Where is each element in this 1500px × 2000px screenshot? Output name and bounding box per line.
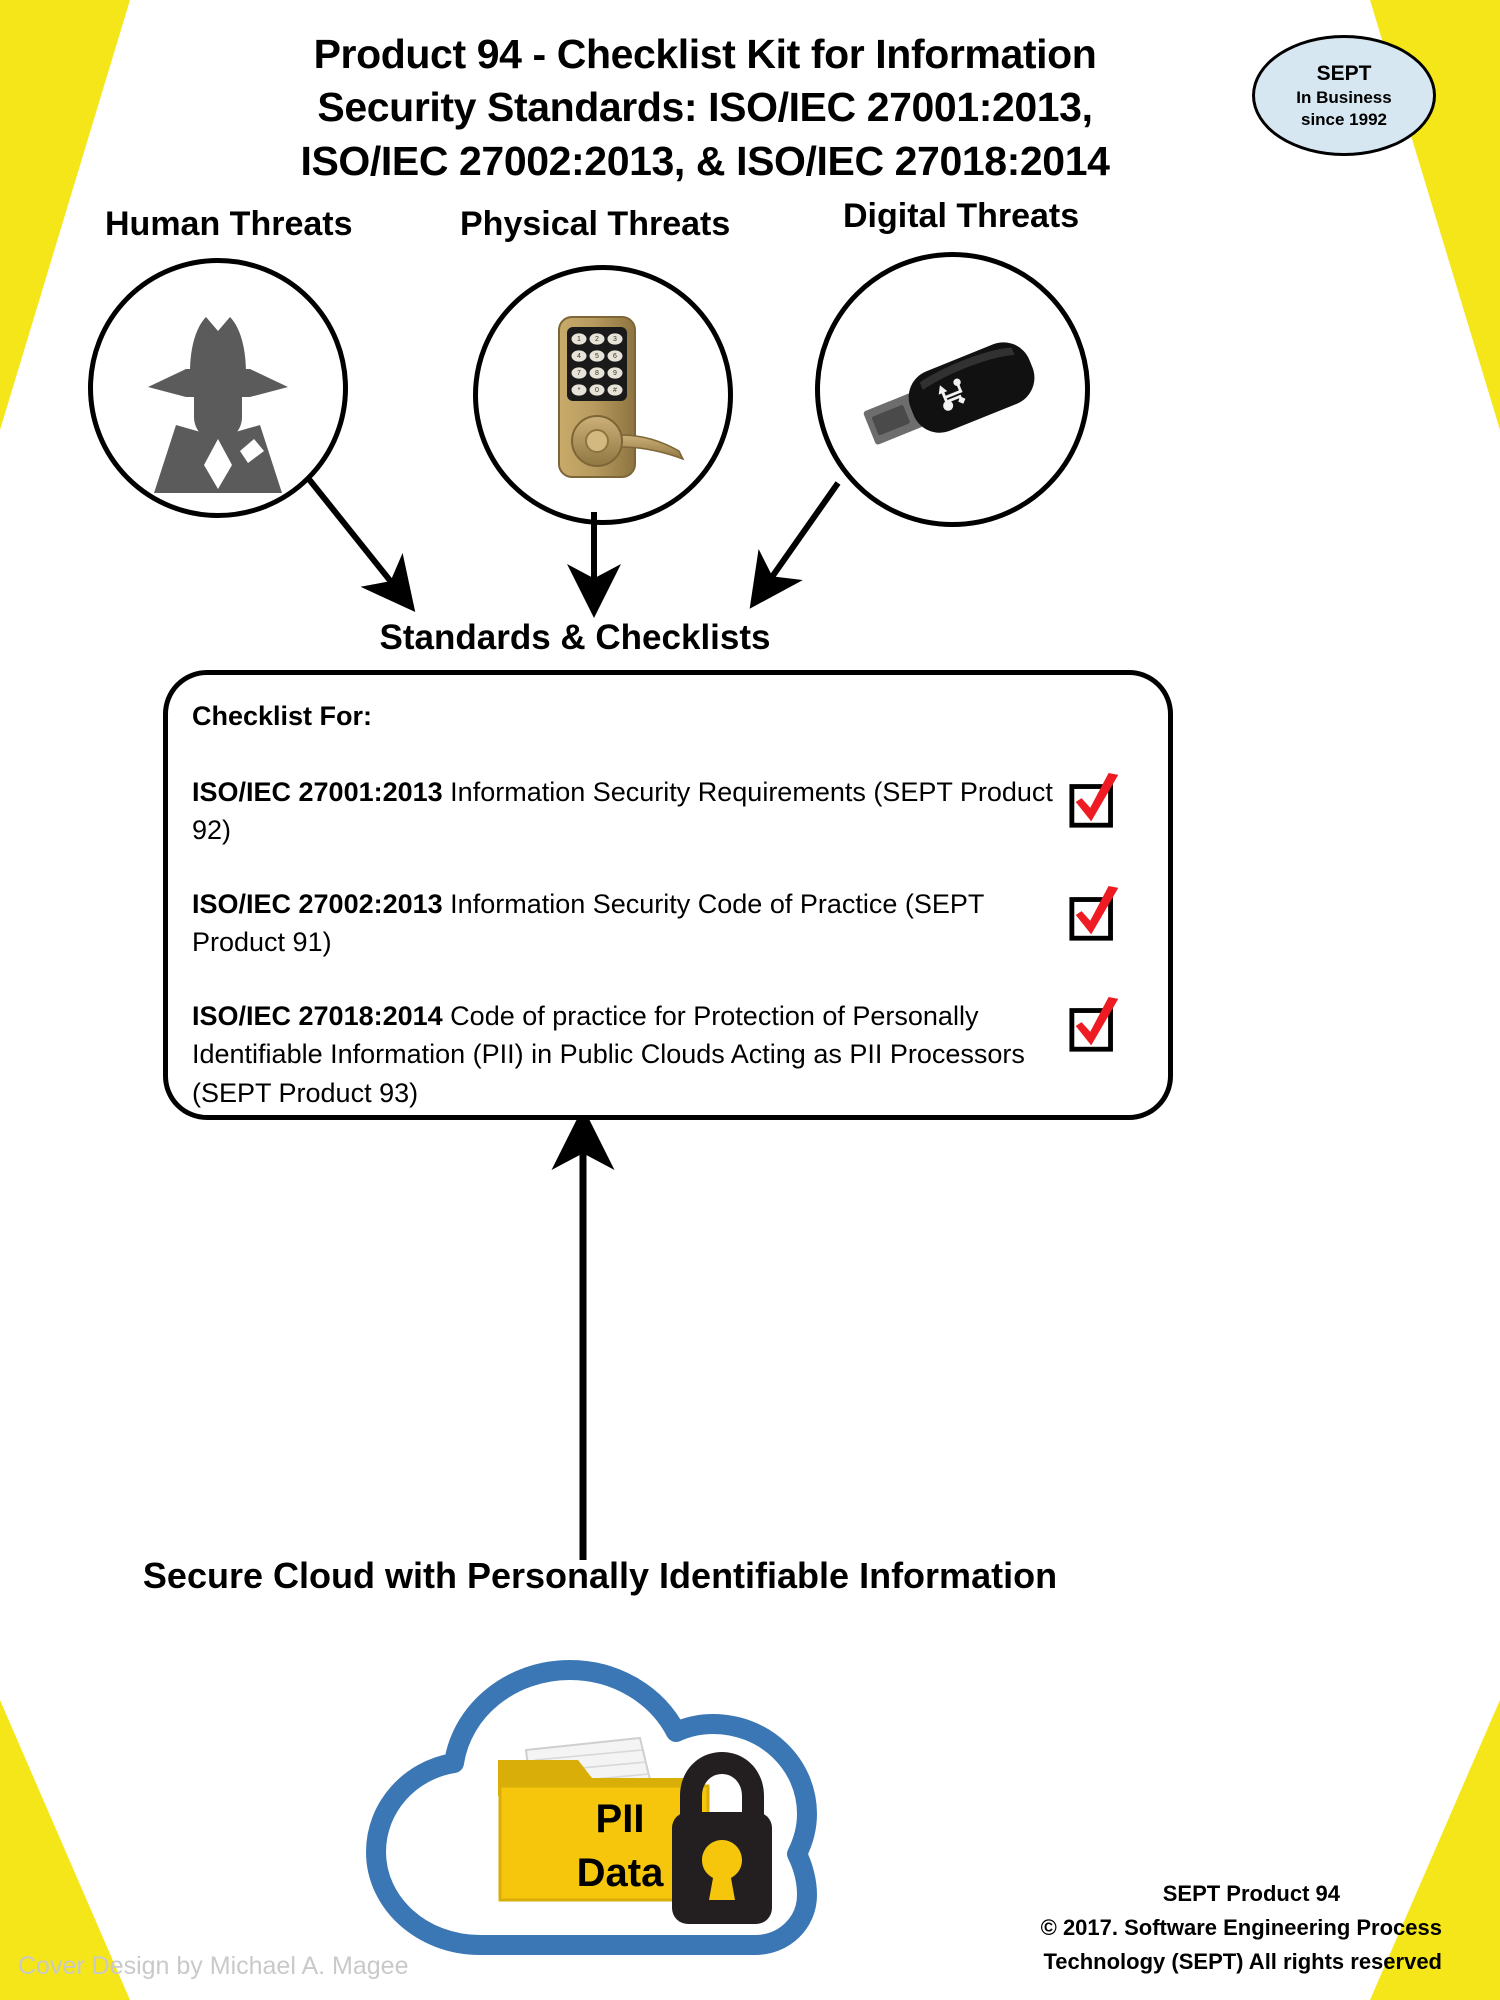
threat-circle-physical: 123 456 789 *0# (473, 265, 733, 525)
cover-design-credit: Cover Design by Michael A. Magee (18, 1952, 408, 1981)
svg-text:0: 0 (595, 387, 599, 394)
threat-label-digital: Digital Threats (843, 197, 1079, 236)
checkbox-checked-27018[interactable] (1068, 997, 1126, 1055)
checkbox-checked-27001[interactable] (1068, 773, 1126, 831)
folder-label-data: Data (577, 1851, 664, 1895)
checklist-item-27018-standard: ISO/IEC 27018:2014 (192, 1001, 443, 1031)
checkbox-checked-27002[interactable] (1068, 886, 1126, 944)
folder-label-pii: PII (596, 1797, 645, 1841)
usb-flash-drive-icon (843, 315, 1063, 475)
sept-badge: SEPT In Business since 1992 (1252, 35, 1436, 156)
arrow-digital-to-checklist (760, 483, 838, 594)
threat-circle-human (88, 258, 348, 518)
secure-cloud-graphic: PII Data (330, 1600, 850, 1990)
checklist-item-27002-standard: ISO/IEC 27002:2013 (192, 889, 443, 919)
checklist-item-27002: ISO/IEC 27002:2013 Information Security … (192, 885, 1072, 962)
svg-text:1: 1 (577, 336, 581, 343)
svg-text:3: 3 (613, 336, 617, 343)
svg-text:5: 5 (595, 353, 599, 360)
threat-circle-digital (815, 252, 1090, 527)
svg-text:#: # (613, 387, 617, 394)
checklist-panel-title: Checklist For: (192, 701, 372, 732)
title-line-2: Security Standards: ISO/IEC 27001:2013, (200, 81, 1210, 134)
arrow-human-to-checklist (308, 478, 404, 598)
keypad-door-lock-icon: 123 456 789 *0# (503, 295, 703, 495)
svg-text:6: 6 (613, 353, 617, 360)
sept-badge-year: since 1992 (1301, 109, 1387, 130)
threat-label-human: Human Threats (105, 205, 353, 244)
checklist-panel: Checklist For: ISO/IEC 27001:2013 Inform… (163, 670, 1173, 1120)
threat-label-physical: Physical Threats (460, 205, 730, 244)
standards-checklists-heading: Standards & Checklists (0, 618, 1150, 658)
checklist-item-27018: ISO/IEC 27018:2014 Code of practice for … (192, 997, 1072, 1112)
title-line-1: Product 94 - Checklist Kit for Informati… (200, 28, 1210, 81)
svg-text:4: 4 (577, 353, 581, 360)
footer-copyright-line-2: Technology (SEPT) All rights reserved (1043, 1946, 1442, 1978)
spy-silhouette-icon (118, 313, 318, 493)
svg-text:2: 2 (595, 336, 599, 343)
svg-text:8: 8 (595, 370, 599, 377)
cover-page: Product 94 - Checklist Kit for Informati… (0, 0, 1500, 2000)
sept-badge-name: SEPT (1317, 61, 1372, 87)
footer-product-line: SEPT Product 94 (1163, 1878, 1340, 1910)
sept-badge-tagline: In Business (1296, 87, 1391, 108)
footer-copyright-line-1: © 2017. Software Engineering Process (1041, 1912, 1442, 1944)
svg-text:7: 7 (577, 370, 581, 377)
page-title: Product 94 - Checklist Kit for Informati… (200, 28, 1210, 188)
svg-text:9: 9 (613, 370, 617, 377)
checklist-item-27001-standard: ISO/IEC 27001:2013 (192, 777, 443, 807)
svg-text:*: * (578, 387, 581, 394)
cloud-caption: Secure Cloud with Personally Identifiabl… (0, 1555, 1200, 1597)
title-line-3: ISO/IEC 27002:2013, & ISO/IEC 27018:2014 (200, 135, 1210, 188)
checklist-item-27001: ISO/IEC 27001:2013 Information Security … (192, 773, 1072, 850)
